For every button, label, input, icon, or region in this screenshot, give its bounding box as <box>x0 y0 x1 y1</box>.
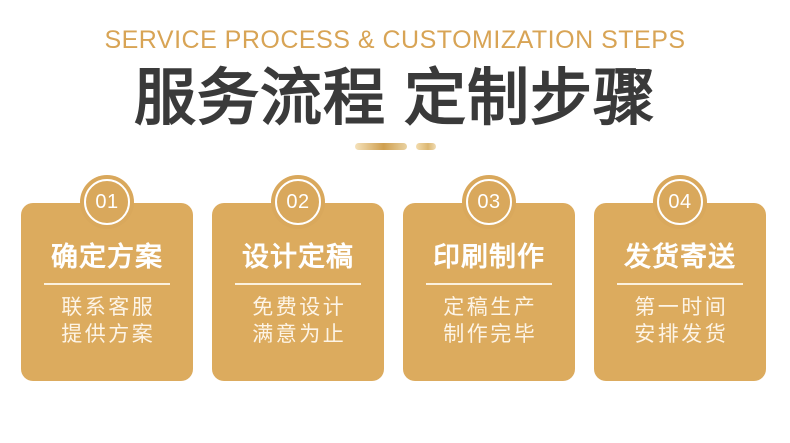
step-divider <box>44 283 170 285</box>
decorative-divider <box>0 141 790 151</box>
service-process-banner: SERVICE PROCESS & CUSTOMIZATION STEPS 服务… <box>0 0 790 443</box>
step-number-badge: 04 <box>653 175 707 229</box>
step-subtitle-line2: 提供方案 <box>59 321 156 348</box>
step-divider <box>235 283 361 285</box>
step-subtitle-line2: 满意为止 <box>250 321 347 348</box>
step-subtitle-line2: 制作完毕 <box>441 321 538 348</box>
steps-row: 01 确定方案 联系客服 提供方案 02 设计定稿 免费设计 满意为止 03 印… <box>21 203 769 381</box>
step-title: 设计定稿 <box>242 241 354 273</box>
step-card-3[interactable]: 03 印刷制作 定稿生产 制作完毕 <box>403 203 575 381</box>
step-subtitle-line1: 免费设计 <box>250 294 347 321</box>
step-card-2[interactable]: 02 设计定稿 免费设计 满意为止 <box>212 203 384 381</box>
page-title-part1: 服务流程 <box>134 64 386 133</box>
step-divider <box>617 283 743 285</box>
step-title: 印刷制作 <box>433 241 545 273</box>
step-number: 04 <box>668 192 691 212</box>
divider-short-segment <box>416 143 436 150</box>
step-subtitle-line1: 定稿生产 <box>441 294 538 321</box>
step-number: 03 <box>477 192 500 212</box>
step-number-badge: 02 <box>271 175 325 229</box>
step-title: 发货寄送 <box>624 241 736 273</box>
step-subtitle-line2: 安排发货 <box>632 321 729 348</box>
eyebrow-text: SERVICE PROCESS & CUSTOMIZATION STEPS <box>0 25 790 55</box>
step-number-badge: 01 <box>80 175 134 229</box>
divider-long-segment <box>355 143 407 150</box>
step-number: 01 <box>95 192 118 212</box>
step-divider <box>426 283 552 285</box>
step-number-badge: 03 <box>462 175 516 229</box>
page-title-part2: 定制步骤 <box>404 64 656 133</box>
step-subtitle-line1: 联系客服 <box>59 294 156 321</box>
step-card-1[interactable]: 01 确定方案 联系客服 提供方案 <box>21 203 193 381</box>
step-number: 02 <box>286 192 309 212</box>
page-title: 服务流程定制步骤 <box>0 63 790 135</box>
step-subtitle-line1: 第一时间 <box>632 294 729 321</box>
banner-header: SERVICE PROCESS & CUSTOMIZATION STEPS 服务… <box>0 0 790 151</box>
step-card-4[interactable]: 04 发货寄送 第一时间 安排发货 <box>594 203 766 381</box>
step-title: 确定方案 <box>51 241 163 273</box>
